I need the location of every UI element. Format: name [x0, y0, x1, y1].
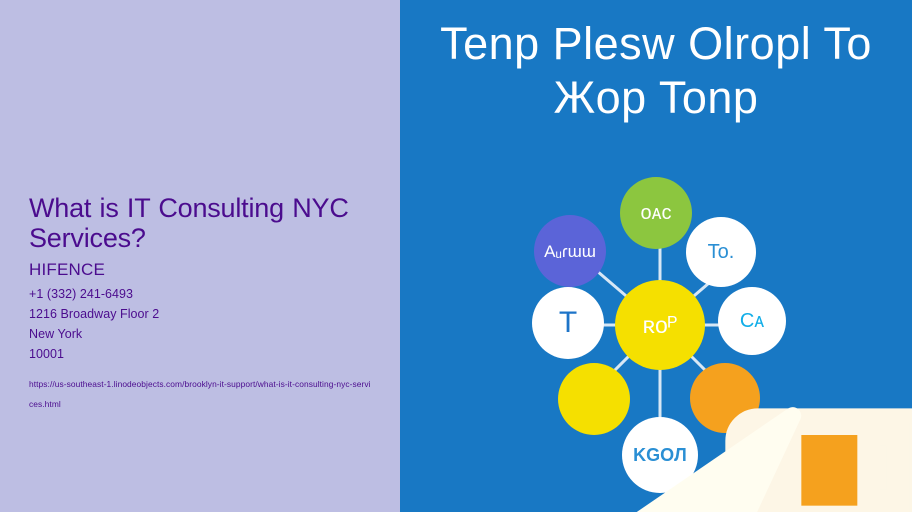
address-zip: 10001 [29, 344, 374, 364]
left-content-block: What is IT Consulting NYC Services? HIFE… [29, 193, 374, 415]
poster-headline-line-2: Жop Tonp [400, 72, 912, 124]
diagram-hub-label: ʀoᴾ [643, 314, 678, 337]
left-info-panel: What is IT Consulting NYC Services? HIFE… [0, 0, 400, 512]
diagram-node-to[interactable]: To. [686, 217, 756, 287]
diagram-node-ca[interactable]: Cᴀ [718, 287, 786, 355]
diagram-hub-node[interactable]: ʀoᴾ [615, 280, 705, 370]
page-title: What is IT Consulting NYC Services? [29, 193, 374, 253]
right-graphic-panel: Tenp Plesw Olropl To Жop Tonp ʀoᴾ [400, 0, 912, 512]
phone-number: +1 (332) 241-6493 [29, 284, 374, 304]
poster-headline-line-1: Tenp Plesw Olropl To [400, 18, 912, 70]
diagram-node-t[interactable]: T [532, 287, 604, 359]
address-street: 1216 Broadway Floor 2 [29, 304, 374, 324]
address-city: New York [29, 324, 374, 344]
diagram-node-aurw-label: Aᵤɾɯɯ [544, 243, 596, 260]
diagram-node-cloud-label: ᴏᴀᴄ [640, 203, 671, 223]
diagram-node-to-label: To. [708, 242, 735, 262]
diagram-node-aurw[interactable]: Aᵤɾɯɯ [534, 215, 606, 287]
source-url[interactable]: https://us-southeast-1.linodeobjects.com… [29, 374, 374, 415]
poster-page: What is IT Consulting NYC Services? HIFE… [0, 0, 912, 512]
diagram-node-cloud[interactable]: ᴏᴀᴄ [620, 177, 692, 249]
diagram-node-send[interactable] [558, 363, 630, 435]
hub-and-spoke-diagram: ʀoᴾ ᴏᴀᴄ To. Cᴀ [500, 165, 820, 505]
poster-headline: Tenp Plesw Olropl To Жop Tonp [400, 18, 912, 124]
organization-name: HIFENCE [29, 259, 374, 280]
diagram-node-t-label: T [559, 308, 577, 338]
diagram-node-ca-label: Cᴀ [740, 311, 764, 331]
